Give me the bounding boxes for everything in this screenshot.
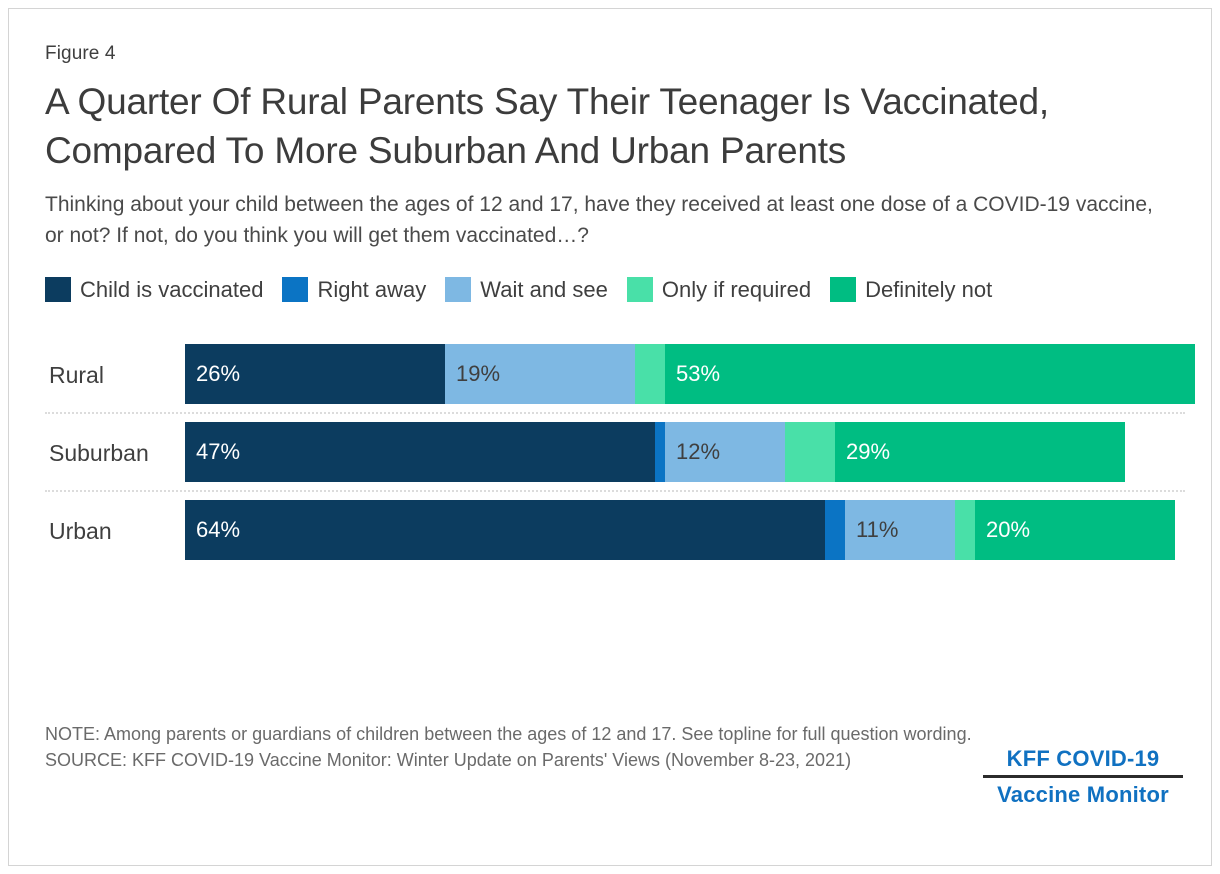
figure-page: Figure 4 A Quarter Of Rural Parents Say … (0, 0, 1220, 874)
figure-frame: Figure 4 A Quarter Of Rural Parents Say … (8, 8, 1212, 866)
bar-segment[interactable]: 20% (975, 500, 1175, 560)
bar-segment[interactable] (785, 422, 835, 482)
legend-label: Right away (317, 277, 426, 302)
bar-segment-value: 53% (676, 344, 720, 404)
figure-footer: NOTE: Among parents or guardians of chil… (45, 721, 1185, 773)
bar-track: 64%11%20% (185, 500, 1185, 560)
legend-swatch-icon (45, 277, 71, 302)
legend-label: Wait and see (480, 277, 608, 302)
note-text: NOTE: Among parents or guardians of chil… (45, 721, 980, 747)
legend-label: Definitely not (865, 277, 992, 302)
bar-segment[interactable]: 19% (445, 344, 635, 404)
bar-segment-value: 64% (196, 500, 240, 560)
kff-logo-line2: Vaccine Monitor (983, 781, 1183, 809)
bar-segment-value: 19% (456, 344, 500, 404)
kff-logo-line1: KFF COVID-19 (983, 745, 1183, 773)
page-title: A Quarter Of Rural Parents Say Their Tee… (45, 77, 1185, 175)
bar-row: Urban64%11%20% (45, 492, 1185, 570)
bar-segment[interactable] (955, 500, 975, 560)
legend-swatch-icon (282, 277, 308, 302)
chart-subtitle: Thinking about your child between the ag… (45, 189, 1170, 251)
source-text: SOURCE: KFF COVID-19 Vaccine Monitor: Wi… (45, 747, 980, 773)
bar-segment[interactable]: 53% (665, 344, 1195, 404)
bar-row-label: Rural (49, 336, 104, 414)
bar-segment[interactable] (635, 344, 665, 404)
bar-segment-value: 11% (856, 500, 898, 560)
bar-row-label: Urban (49, 492, 112, 570)
figure-number: Figure 4 (45, 41, 1185, 67)
bar-track: 26%19%53% (185, 344, 1185, 404)
legend-swatch-icon (830, 277, 856, 302)
kff-logo-rule (983, 775, 1183, 778)
bar-row: Rural26%19%53% (45, 336, 1185, 414)
legend-label: Only if required (662, 277, 811, 302)
figure-header: Figure 4 A Quarter Of Rural Parents Say … (45, 41, 1185, 570)
bar-segment-value: 20% (986, 500, 1030, 560)
bar-segment[interactable]: 64% (185, 500, 825, 560)
bar-row-label: Suburban (49, 414, 149, 492)
bar-segment[interactable] (655, 422, 665, 482)
bar-row: Suburban47%12%29% (45, 414, 1185, 492)
bar-segment[interactable]: 11% (845, 500, 955, 560)
legend-swatch-icon (627, 277, 653, 302)
bar-track: 47%12%29% (185, 422, 1185, 482)
legend-label: Child is vaccinated (80, 277, 263, 302)
stacked-bar-chart: Rural26%19%53%Suburban47%12%29%Urban64%1… (45, 336, 1185, 570)
kff-logo: KFF COVID-19 Vaccine Monitor (983, 745, 1183, 809)
bar-segment[interactable]: 12% (665, 422, 785, 482)
chart-legend: Child is vaccinatedRight awayWait and se… (45, 273, 1165, 314)
bar-segment-value: 26% (196, 344, 240, 404)
footnotes: NOTE: Among parents or guardians of chil… (45, 721, 980, 773)
bar-segment-value: 12% (676, 422, 720, 482)
bar-segment[interactable]: 29% (835, 422, 1125, 482)
legend-swatch-icon (445, 277, 471, 302)
bar-segment[interactable] (825, 500, 845, 560)
bar-segment[interactable]: 47% (185, 422, 655, 482)
bar-segment-value: 47% (196, 422, 240, 482)
bar-segment[interactable]: 26% (185, 344, 445, 404)
bar-segment-value: 29% (846, 422, 890, 482)
